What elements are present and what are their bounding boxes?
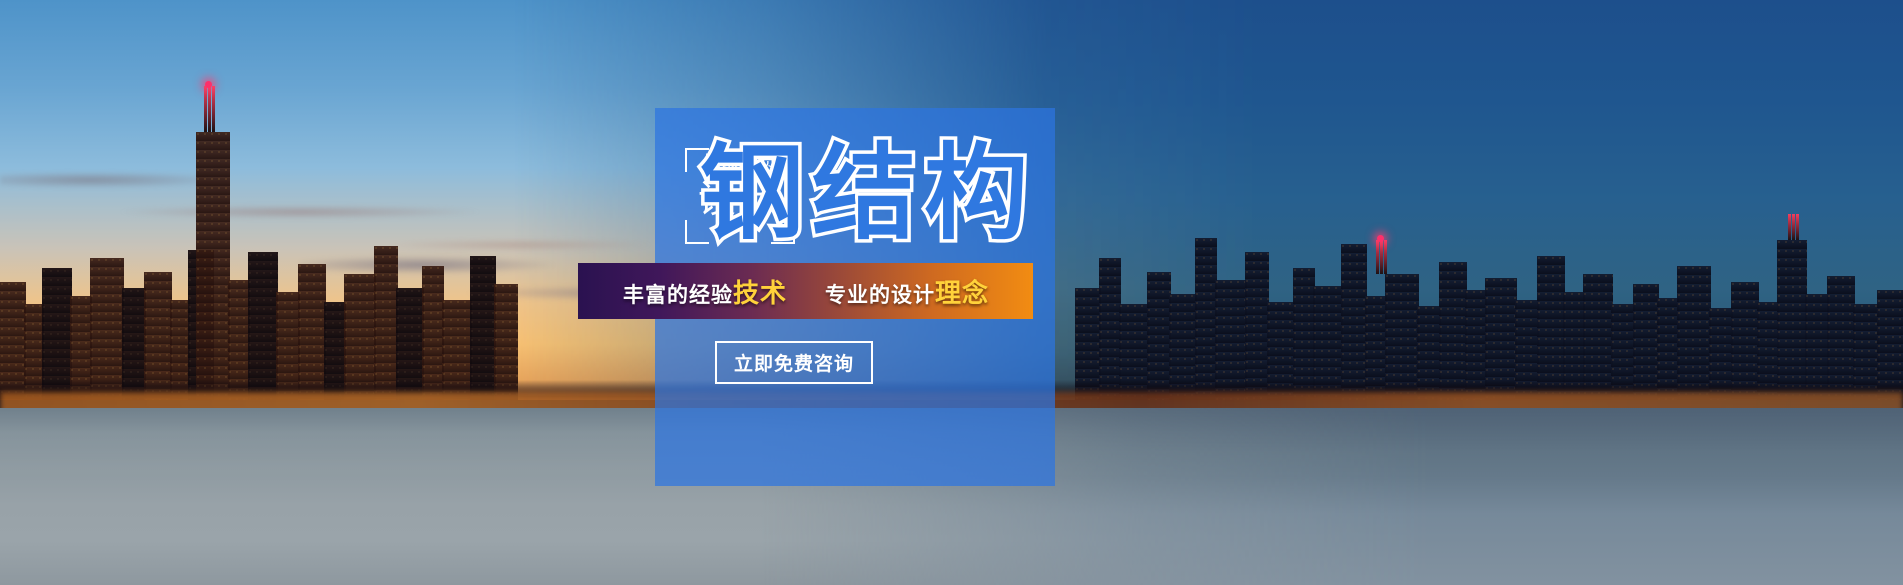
free-consultation-label: 立即免费咨询 bbox=[734, 349, 854, 376]
slogan-strip: 丰富的经验技术 专业的设计理念 bbox=[578, 263, 1033, 319]
page-title: 钢结构 bbox=[700, 134, 1060, 254]
slogan-2-lead: 专业的设计 bbox=[825, 283, 935, 307]
building bbox=[1777, 240, 1807, 400]
building bbox=[1099, 258, 1121, 400]
antenna-spire bbox=[204, 86, 207, 132]
building bbox=[1537, 256, 1565, 400]
slogan-item-2: 专业的设计理念 bbox=[825, 273, 989, 310]
antenna-spire bbox=[1384, 240, 1387, 274]
antenna-spire bbox=[1792, 214, 1795, 240]
antenna-spire bbox=[1796, 214, 1799, 240]
antenna-spire bbox=[208, 86, 211, 132]
free-consultation-button[interactable]: 立即免费咨询 bbox=[715, 341, 873, 384]
building bbox=[1341, 244, 1367, 400]
building bbox=[1195, 238, 1217, 400]
slogan-1-lead: 丰富的经验 bbox=[623, 283, 733, 307]
tower-beacon-light bbox=[1377, 235, 1384, 242]
antenna-spire bbox=[1376, 240, 1379, 274]
building bbox=[1245, 252, 1269, 400]
antenna-spire bbox=[212, 86, 215, 132]
tower-beacon-light bbox=[205, 81, 212, 88]
slogan-2-highlight: 理念 bbox=[935, 279, 989, 309]
antenna-spire bbox=[1380, 240, 1383, 274]
slogan-item-1: 丰富的经验技术 bbox=[623, 273, 787, 310]
hero-banner: 甲级资质 设计 钢结构 丰富的经验技术 专业的设计理念 立即免费咨询 bbox=[0, 0, 1903, 585]
slogan-1-highlight: 技术 bbox=[733, 279, 787, 309]
antenna-spire bbox=[1788, 214, 1791, 240]
